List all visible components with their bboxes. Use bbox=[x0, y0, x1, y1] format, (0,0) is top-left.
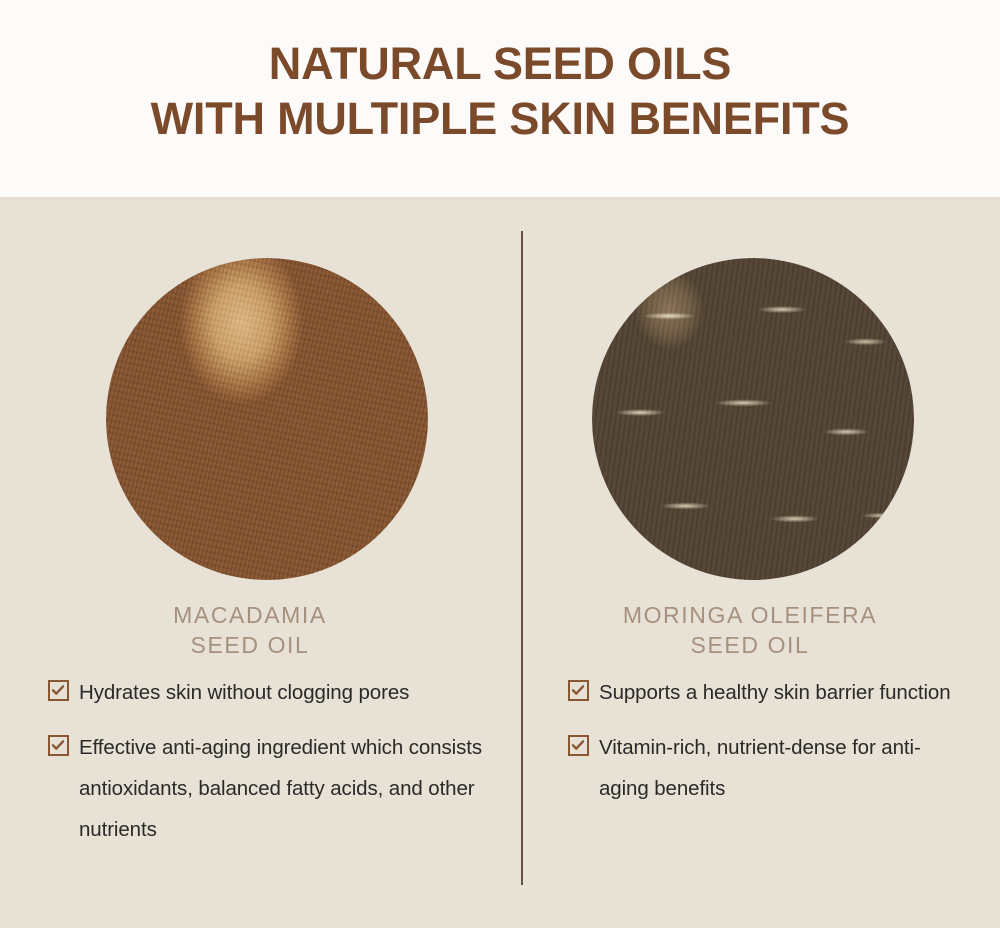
page-title-line-1: NATURAL SEED OILS bbox=[0, 36, 1000, 91]
benefit-item: Effective anti-aging ingredient which co… bbox=[48, 727, 508, 850]
infographic-page: NATURAL SEED OILS WITH MULTIPLE SKIN BEN… bbox=[0, 0, 1000, 928]
moringa-photo-texture bbox=[592, 258, 914, 580]
column-macadamia: MACADAMIA SEED OIL Hydrates skin without… bbox=[0, 197, 500, 928]
column-moringa: MORINGA OLEIFERA SEED OIL Supports a hea… bbox=[500, 197, 1000, 928]
benefit-item: Hydrates skin without clogging pores bbox=[48, 672, 508, 713]
macadamia-nuts-photo bbox=[106, 258, 428, 580]
benefit-item: Supports a healthy skin barrier function bbox=[568, 672, 1000, 713]
benefit-text: Vitamin-rich, nutrient-dense for anti-ag… bbox=[599, 727, 959, 809]
checkmark-icon bbox=[48, 735, 69, 756]
page-title: NATURAL SEED OILS WITH MULTIPLE SKIN BEN… bbox=[0, 36, 1000, 146]
oil-name-line-2: SEED OIL bbox=[0, 630, 500, 660]
benefit-text: Supports a healthy skin barrier function bbox=[599, 672, 951, 713]
oil-name-line-2: SEED OIL bbox=[500, 630, 1000, 660]
benefit-list-moringa: Supports a healthy skin barrier function… bbox=[568, 672, 1000, 823]
checkmark-icon bbox=[568, 735, 589, 756]
macadamia-photo-texture bbox=[106, 258, 428, 580]
checkmark-icon bbox=[568, 680, 589, 701]
oil-name-line-1: MORINGA OLEIFERA bbox=[500, 600, 1000, 630]
oil-name-macadamia: MACADAMIA SEED OIL bbox=[0, 600, 500, 660]
benefit-item: Vitamin-rich, nutrient-dense for anti-ag… bbox=[568, 727, 1000, 809]
benefit-text: Hydrates skin without clogging pores bbox=[79, 672, 409, 713]
moringa-oleifera-seeds-photo bbox=[592, 258, 914, 580]
checkmark-icon bbox=[48, 680, 69, 701]
header-band: NATURAL SEED OILS WITH MULTIPLE SKIN BEN… bbox=[0, 0, 1000, 197]
benefit-text: Effective anti-aging ingredient which co… bbox=[79, 727, 499, 850]
benefit-list-macadamia: Hydrates skin without clogging pores Eff… bbox=[48, 672, 508, 864]
page-title-line-2: WITH MULTIPLE SKIN BENEFITS bbox=[0, 91, 1000, 146]
oil-name-moringa: MORINGA OLEIFERA SEED OIL bbox=[500, 600, 1000, 660]
oil-name-line-1: MACADAMIA bbox=[0, 600, 500, 630]
